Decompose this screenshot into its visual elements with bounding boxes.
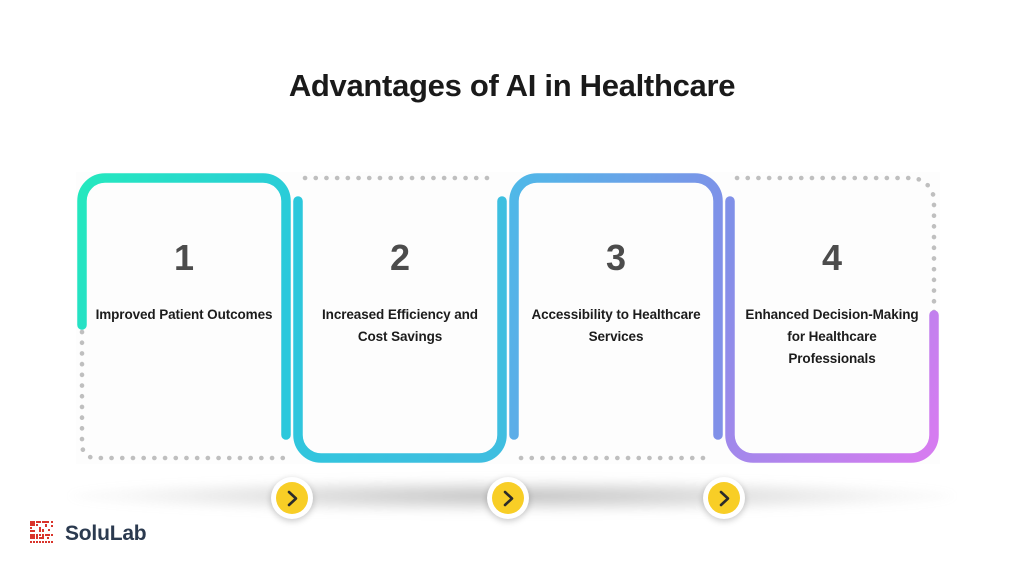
logo-wordmark: SoluLab	[65, 522, 146, 546]
connector-arrow-3[interactable]	[703, 477, 745, 519]
step-label: Increased Efficiency and Cost Savings	[311, 304, 489, 348]
step-card-4[interactable]: 4 Enhanced Decision-Making for Healthcar…	[724, 172, 940, 464]
footer-logo[interactable]: SoluLab	[30, 521, 146, 547]
step-number: 2	[390, 240, 410, 276]
step-number: 4	[822, 240, 842, 276]
step-number: 3	[606, 240, 626, 276]
step-card-2[interactable]: 2 Increased Efficiency and Cost Savings	[292, 172, 508, 464]
step-label: Accessibility to Healthcare Services	[527, 304, 705, 348]
step-card-2-body: 2 Increased Efficiency and Cost Savings	[292, 172, 508, 464]
chevron-right-icon	[708, 482, 740, 514]
chevron-right-icon	[276, 482, 308, 514]
connector-arrow-1[interactable]	[271, 477, 313, 519]
chevron-right-icon	[492, 482, 524, 514]
step-label: Improved Patient Outcomes	[95, 304, 273, 326]
connector-arrow-2[interactable]	[487, 477, 529, 519]
step-card-1[interactable]: 1 Improved Patient Outcomes	[76, 172, 292, 464]
step-card-3[interactable]: 3 Accessibility to Healthcare Services	[508, 172, 724, 464]
step-number: 1	[174, 240, 194, 276]
solulab-pixel-logo-icon	[30, 521, 56, 547]
page-title: Advantages of AI in Healthcare	[0, 68, 1024, 104]
step-label: Enhanced Decision-Making for Healthcare …	[743, 304, 921, 370]
step-card-3-body: 3 Accessibility to Healthcare Services	[508, 172, 724, 464]
step-card-1-body: 1 Improved Patient Outcomes	[76, 172, 292, 464]
step-card-4-body: 4 Enhanced Decision-Making for Healthcar…	[724, 172, 940, 464]
process-steps-diagram: 1 Improved Patient Outcomes 2 Increased …	[76, 172, 940, 464]
